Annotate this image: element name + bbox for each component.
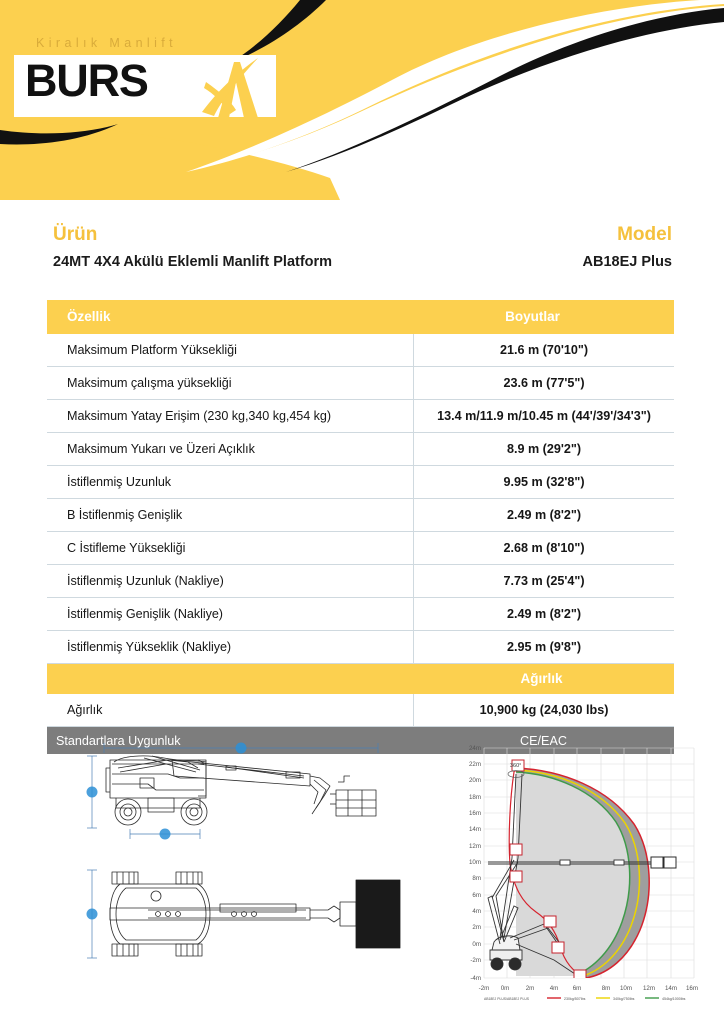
chart-legend: AB18EJ PLUS/AB18EJ PLUS 230kg/507lbs 340… [484, 997, 686, 1001]
figures-area: 360° 24m 22m 20m 18m 16m 14m 12m 10m 8m … [0, 738, 724, 1024]
brand-name: BURS [25, 58, 148, 103]
spec-sheet-page: Kiralık Manlift BURS Ürün 24MT 4X4 Akülü… [0, 0, 724, 1024]
logo-a-mark-icon [174, 52, 274, 120]
svg-text:16m: 16m [469, 810, 481, 817]
model-label: Model [583, 222, 672, 248]
row-feature: İstiflenmiş Genişlik (Nakliye) [47, 607, 413, 621]
row-feature: İstiflenmiş Uzunluk [47, 475, 413, 489]
svg-text:8m: 8m [472, 875, 481, 882]
svg-text:20m: 20m [469, 777, 481, 784]
row-value: 10,900 kg (24,030 lbs) [413, 694, 674, 726]
row-feature: Maksimum Platform Yüksekliği [47, 343, 413, 357]
column-header-feature: Özellik [67, 309, 111, 324]
y-axis-labels: 24m 22m 20m 18m 16m 14m 12m 10m 8m 6m 4m… [469, 745, 481, 982]
svg-text:2m: 2m [472, 924, 481, 931]
brand-tagline: Kiralık Manlift [36, 36, 177, 50]
svg-text:14m: 14m [665, 985, 677, 992]
svg-text:360°: 360° [510, 763, 521, 769]
svg-text:14m: 14m [469, 826, 481, 833]
svg-text:-4m: -4m [470, 975, 481, 982]
x-axis-labels: -2m 0m 2m 4m 6m 8m 10m 12m 14m 16m [479, 985, 698, 992]
svg-text:22m: 22m [469, 761, 481, 768]
row-feature: Maksimum Yatay Erişim (230 kg,340 kg,454… [47, 409, 413, 423]
row-feature: C İstifleme Yüksekliği [47, 541, 413, 555]
brand-logo: Kiralık Manlift BURS [14, 36, 282, 124]
work-envelope-svg: 360° 24m 22m 20m 18m 16m 14m 12m 10m 8m … [444, 738, 716, 1018]
svg-text:12m: 12m [643, 985, 655, 992]
wheel-top [176, 872, 202, 884]
svg-text:0m: 0m [501, 985, 510, 992]
legend-model-label: AB18EJ PLUS/AB18EJ PLUS [484, 997, 530, 1001]
row-value: 2.49 m (8'2") [413, 499, 674, 531]
row-feature: B İstiflenmiş Genişlik [47, 508, 413, 522]
svg-text:12m: 12m [469, 843, 481, 850]
legend-label-230kg: 230kg/507lbs [564, 997, 586, 1001]
machine-line-drawings [48, 738, 440, 988]
row-value: 13.4 m/11.9 m/10.45 m (44'/39'/34'3") [413, 400, 674, 432]
table-row: İstiflenmiş Genişlik (Nakliye) 2.49 m (8… [47, 598, 674, 631]
table-row: C İstifleme Yüksekliği 2.68 m (8'10") [47, 532, 674, 565]
row-feature: Ağırlık [47, 703, 413, 717]
row-feature: Maksimum Yukarı ve Üzeri Açıklık [47, 442, 413, 456]
spec-table-header: Özellik Boyutlar [47, 300, 674, 334]
wheel-top [112, 872, 138, 884]
row-value: 21.6 m (70'10") [413, 334, 674, 366]
svg-text:4m: 4m [550, 985, 559, 992]
table-row: Maksimum Yukarı ve Üzeri Açıklık 8.9 m (… [47, 433, 674, 466]
wheel [115, 799, 141, 825]
machine-drawings [48, 738, 440, 988]
row-value: 8.9 m (29'2") [413, 433, 674, 465]
svg-text:16m: 16m [686, 985, 698, 992]
legend-label-340kg: 340kg/750lbs [613, 997, 635, 1001]
row-value: 2.49 m (8'2") [413, 598, 674, 630]
svg-text:0m: 0m [472, 941, 481, 948]
svg-text:-2m: -2m [479, 985, 490, 992]
svg-text:6m: 6m [573, 985, 582, 992]
model-block: Model AB18EJ Plus [583, 222, 672, 273]
legend-label-454kg: 454kg/1000lbs [662, 997, 686, 1001]
weight-section-label: Ağırlık [520, 671, 562, 686]
svg-text:10m: 10m [469, 859, 481, 866]
wheel-top [112, 944, 138, 956]
row-feature: İstiflenmiş Uzunluk (Nakliye) [47, 574, 413, 588]
row-value: 7.73 m (25'4") [413, 565, 674, 597]
row-value: 9.95 m (32'8") [413, 466, 674, 498]
product-name: 24MT 4X4 Akülü Eklemli Manlift Platform [53, 252, 332, 273]
table-row: Maksimum çalışma yüksekliği 23.6 m (77'5… [47, 367, 674, 400]
row-value: 2.68 m (8'10") [413, 532, 674, 564]
product-block: Ürün 24MT 4X4 Akülü Eklemli Manlift Plat… [53, 222, 332, 273]
product-label: Ürün [53, 222, 332, 248]
table-row: İstiflenmiş Yükseklik (Nakliye) 2.95 m (… [47, 631, 674, 664]
table-row: Maksimum Platform Yüksekliği 21.6 m (70'… [47, 334, 674, 367]
table-row-weight: Ağırlık 10,900 kg (24,030 lbs) [47, 694, 674, 727]
row-feature: Maksimum çalışma yüksekliği [47, 376, 413, 390]
table-row: İstiflenmiş Uzunluk (Nakliye) 7.73 m (25… [47, 565, 674, 598]
svg-text:18m: 18m [469, 794, 481, 801]
wheel [181, 799, 207, 825]
header-banner: Kiralık Manlift BURS [0, 0, 724, 200]
column-header-dimensions: Boyutlar [505, 309, 560, 324]
work-envelope-chart: 360° 24m 22m 20m 18m 16m 14m 12m 10m 8m … [444, 738, 716, 1018]
svg-text:10m: 10m [620, 985, 632, 992]
svg-text:8m: 8m [602, 985, 611, 992]
svg-text:24m: 24m [469, 745, 481, 752]
row-feature: İstiflenmiş Yükseklik (Nakliye) [47, 640, 413, 654]
table-row: İstiflenmiş Uzunluk 9.95 m (32'8") [47, 466, 674, 499]
table-row: Maksimum Yatay Erişim (230 kg,340 kg,454… [47, 400, 674, 433]
model-name: AB18EJ Plus [583, 252, 672, 273]
row-value: 23.6 m (77'5") [413, 367, 674, 399]
svg-text:-2m: -2m [470, 957, 481, 964]
svg-text:4m: 4m [472, 908, 481, 915]
row-value: 2.95 m (9'8") [413, 631, 674, 663]
svg-text:2m: 2m [526, 985, 535, 992]
weight-section-header: Ağırlık [47, 664, 674, 694]
svg-text:6m: 6m [472, 892, 481, 899]
spec-table: Özellik Boyutlar Maksimum Platform Yükse… [47, 300, 674, 754]
wheel-top [176, 944, 202, 956]
table-row: B İstiflenmiş Genişlik 2.49 m (8'2") [47, 499, 674, 532]
callout-badges [87, 743, 247, 920]
